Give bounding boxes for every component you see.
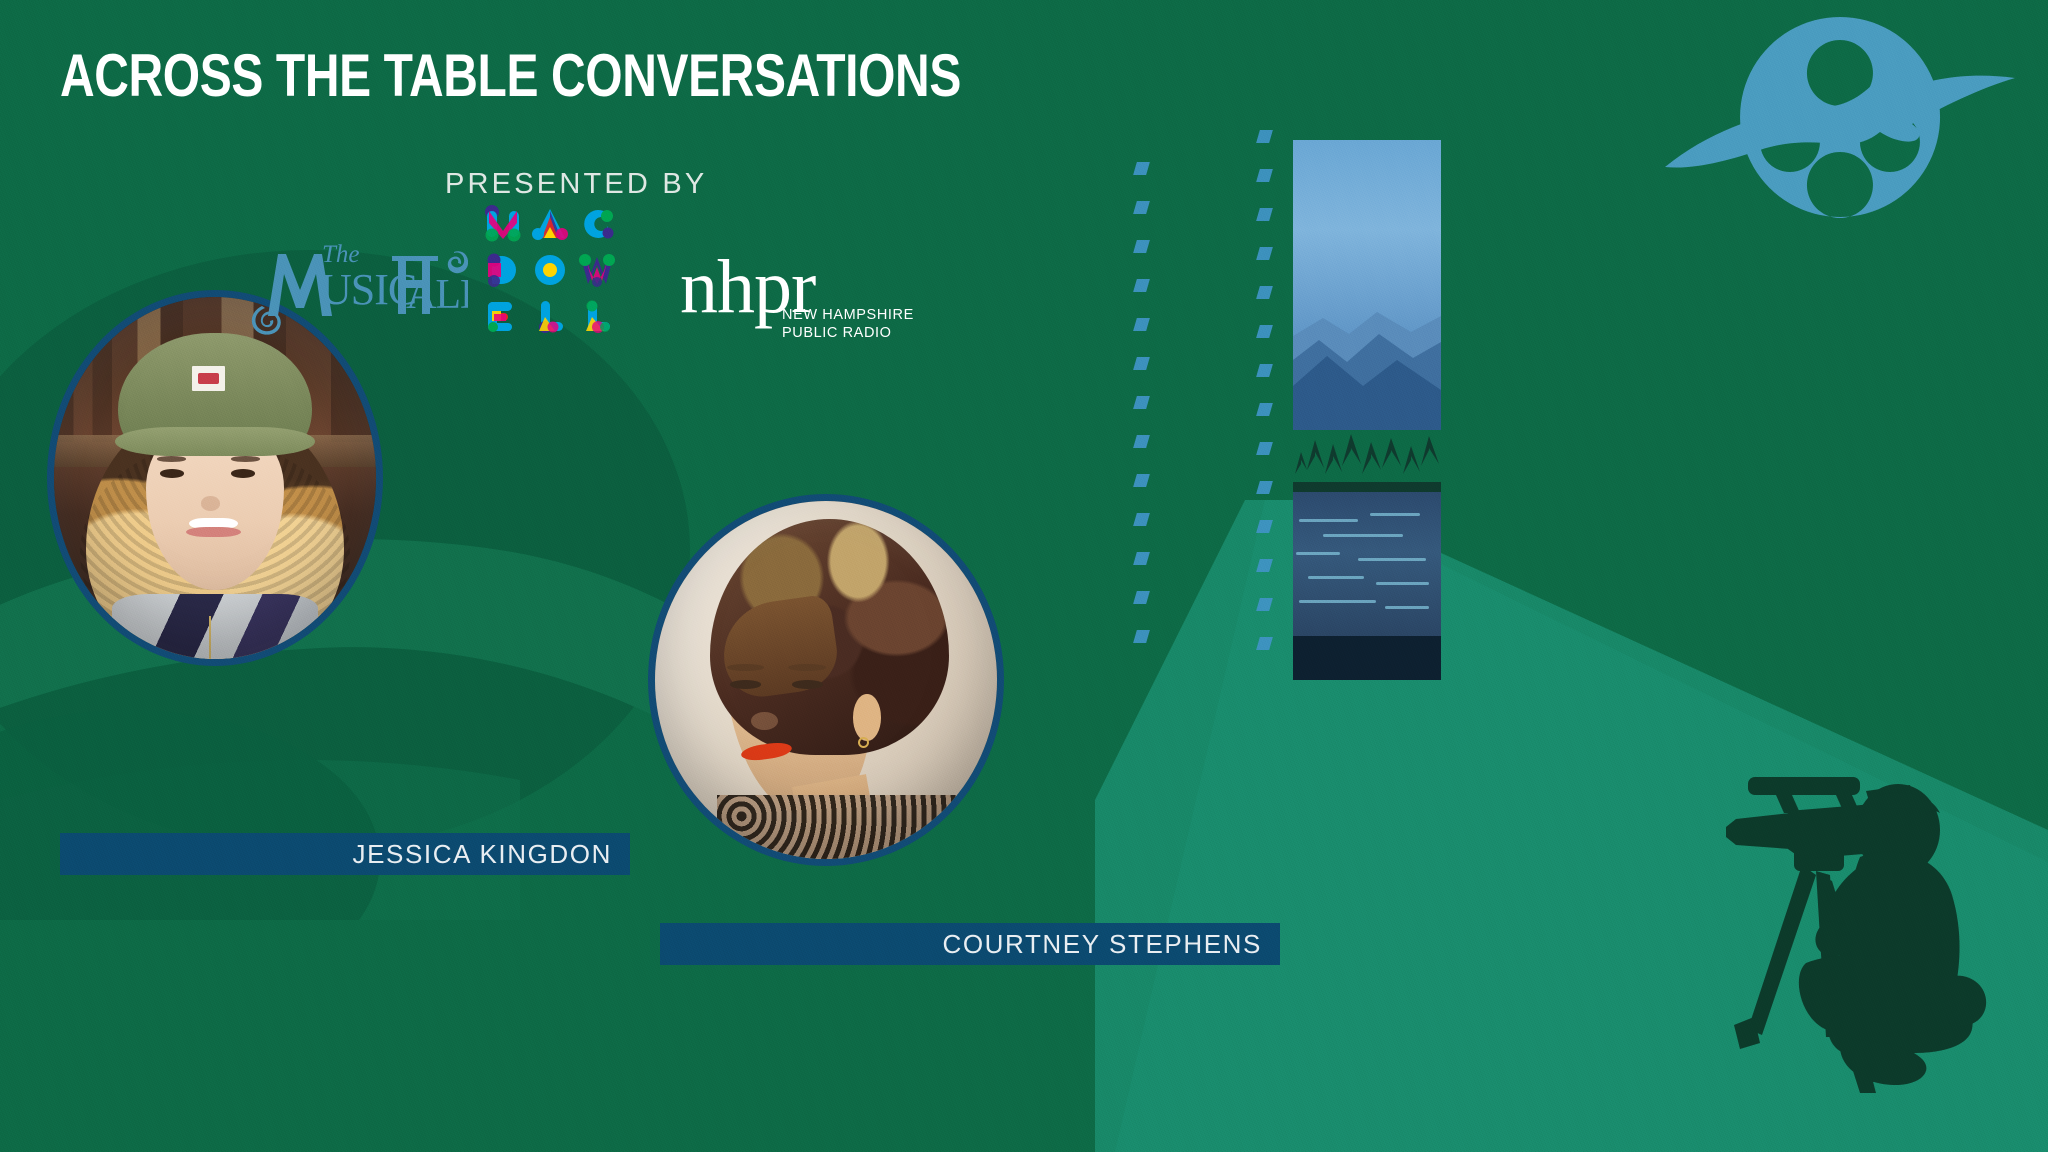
speaker-photo-2: [648, 494, 1004, 866]
speaker-photo-2-image: [655, 501, 997, 859]
macdowell-row-1: [484, 205, 634, 243]
macdowell-letter-C: [578, 205, 616, 243]
speaker-photo-1: [47, 290, 383, 666]
page-title: ACROSS THE TABLE CONVERSATIONS: [60, 44, 961, 107]
macdowell-letter-M: [484, 205, 522, 243]
macdowell-letter-D: [484, 251, 522, 289]
sponsor-logo-nhpr: nhpr NEW HAMPSHIRE PUBLIC RADIO: [680, 258, 815, 317]
speaker-name-bar-2: COURTNEY STEPHENS: [660, 923, 1280, 965]
dashed-stitch-line-left: [1135, 162, 1148, 669]
camera-operator-silhouette: [1690, 725, 2020, 1100]
svg-text:The: The: [322, 241, 360, 268]
macdowell-row-2: [484, 251, 634, 289]
speaker-name-bar-1: JESSICA KINGDON: [60, 833, 630, 875]
macdowell-letter-L1: [531, 297, 569, 335]
doorway-mountains: [1293, 290, 1441, 430]
nhpr-tagline-line2: PUBLIC RADIO: [782, 325, 914, 343]
macdowell-letter-L2: [578, 297, 616, 335]
macdowell-letter-O: [531, 251, 569, 289]
poster-canvas: ACROSS THE TABLE CONVERSATIONS PRESENTED…: [0, 0, 2048, 1152]
macdowell-row-3: [484, 297, 634, 335]
macdowell-bird-emblem-icon: [1640, 12, 2030, 227]
sponsor-logo-music-hall: The USIC ALL: [248, 228, 468, 340]
speaker-name-1: JESSICA KINGDON: [353, 839, 613, 870]
doorway-threshold-shadow: [1293, 636, 1441, 680]
svg-text:ALL: ALL: [406, 272, 468, 318]
macdowell-letter-A: [531, 205, 569, 243]
doorway-lake: [1293, 492, 1441, 642]
nhpr-tagline: NEW HAMPSHIRE PUBLIC RADIO: [782, 307, 914, 342]
speaker-photo-1-image: [54, 297, 376, 659]
doorway-opening: [1293, 140, 1441, 680]
speaker-name-2: COURTNEY STEPHENS: [942, 929, 1262, 960]
macdowell-letter-E: [484, 297, 522, 335]
dashed-stitch-line-right: [1258, 130, 1271, 676]
presented-by-label: PRESENTED BY: [445, 168, 707, 201]
sponsor-logo-macdowell: [484, 205, 634, 343]
macdowell-letter-W: [578, 251, 616, 289]
nhpr-tagline-line1: NEW HAMPSHIRE: [782, 307, 914, 325]
